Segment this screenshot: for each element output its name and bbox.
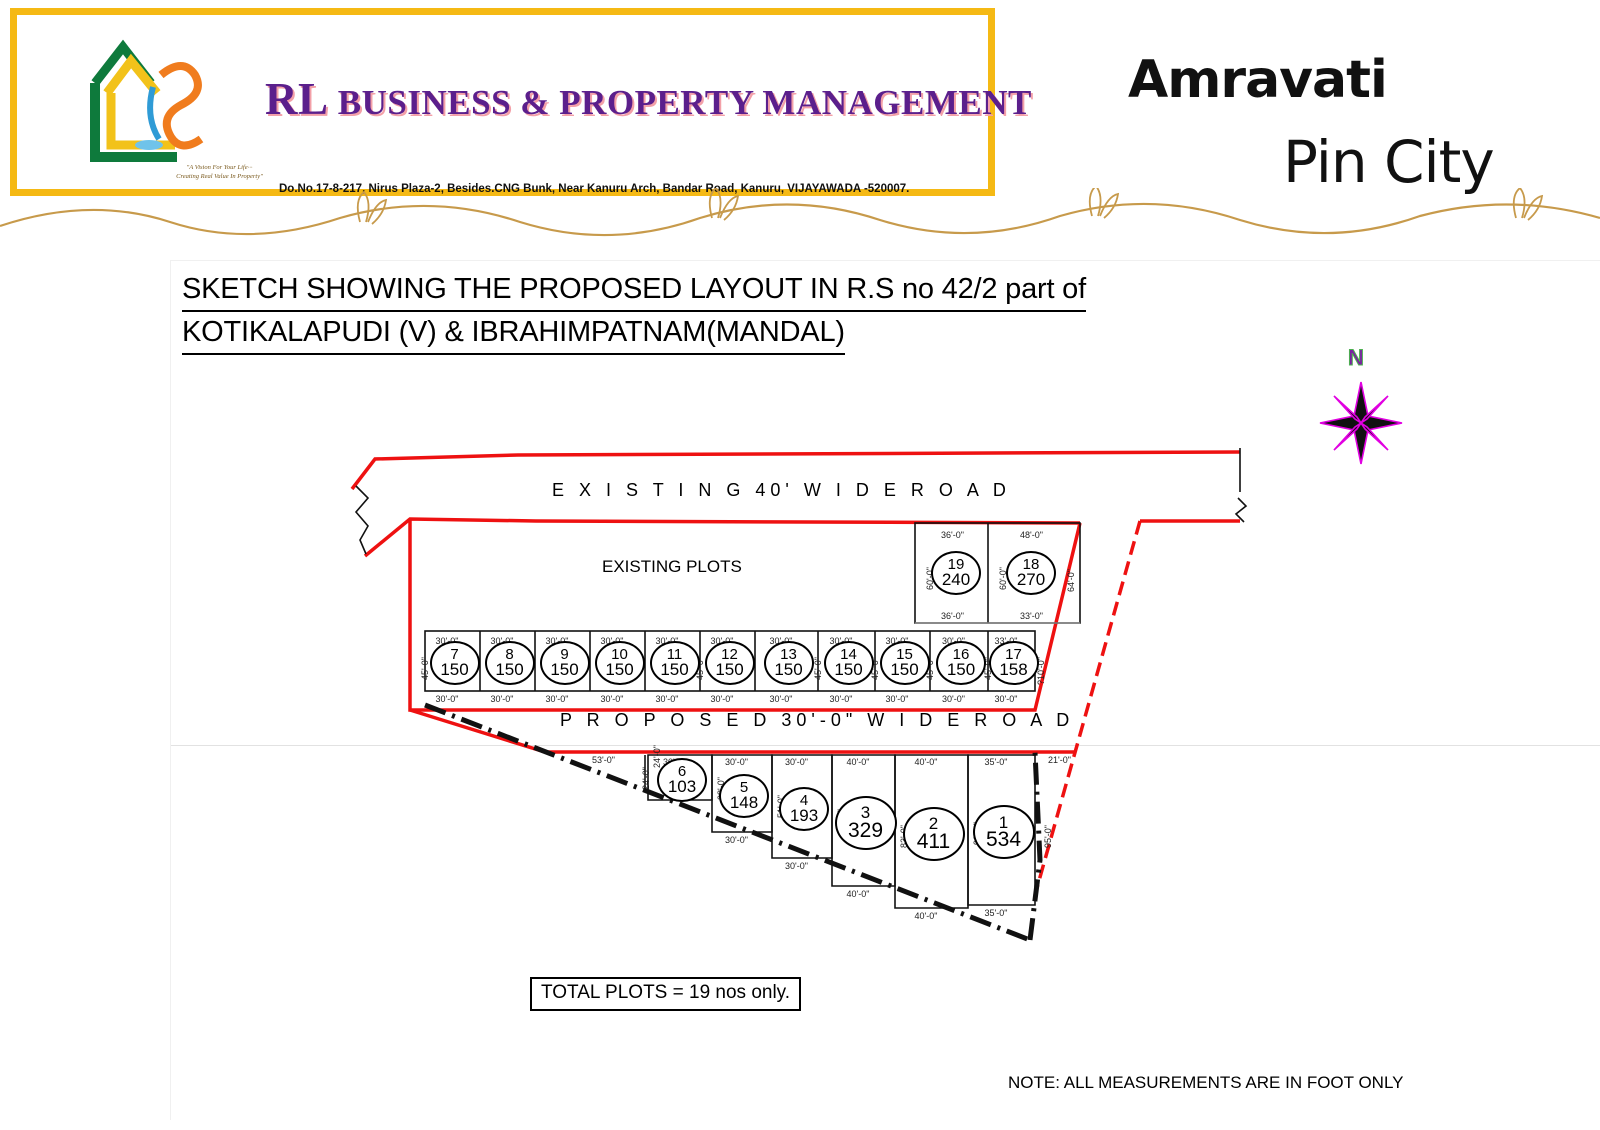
plot-marker-3[interactable]: 3329 bbox=[835, 796, 897, 850]
plot-2-bottom-dim: 40'-0" bbox=[915, 911, 938, 921]
plot-1-far-dim: 95'-0" bbox=[1043, 825, 1053, 848]
plot-8-bottom-dim: 30'-0" bbox=[491, 694, 514, 704]
plot-marker-13[interactable]: 13150 bbox=[764, 641, 814, 685]
plot-16-area: 150 bbox=[947, 662, 975, 678]
plot-14-area: 150 bbox=[834, 662, 862, 678]
plot-19-bottom-dim: 36'-0" bbox=[941, 611, 964, 621]
plot-12-bottom-dim: 30'-0" bbox=[711, 694, 734, 704]
plot-marker-5[interactable]: 5148 bbox=[719, 774, 769, 818]
plot-1-area: 534 bbox=[986, 830, 1021, 849]
plot-1-gap-dim: 21'-0" bbox=[1048, 755, 1071, 765]
plot-1-bottom-dim: 35'-0" bbox=[985, 908, 1008, 918]
plot-15-bottom-dim: 30'-0" bbox=[886, 694, 909, 704]
plot-9-area: 150 bbox=[550, 662, 578, 678]
plot-19-area: 240 bbox=[942, 572, 970, 588]
plot-18-area: 270 bbox=[1017, 572, 1045, 588]
plot-marker-17[interactable]: 17158 bbox=[989, 641, 1039, 685]
plot-marker-8[interactable]: 8150 bbox=[485, 641, 535, 685]
plot-marker-9[interactable]: 9150 bbox=[540, 641, 590, 685]
plot-marker-15[interactable]: 15150 bbox=[880, 641, 930, 685]
plot-15-area: 150 bbox=[890, 662, 918, 678]
plot-marker-16[interactable]: 16150 bbox=[936, 641, 986, 685]
plot-5-top-dim: 30'-0" bbox=[725, 757, 748, 767]
plot-4-area: 193 bbox=[790, 808, 818, 824]
plot-4-bottom-dim: 30'-0" bbox=[785, 861, 808, 871]
plot-7-left-dim: 45'-0" bbox=[420, 657, 430, 680]
plot-11-area: 150 bbox=[660, 662, 688, 678]
plot-17-area: 158 bbox=[999, 662, 1027, 678]
plot-marker-10[interactable]: 10150 bbox=[595, 641, 645, 685]
plot-marker-12[interactable]: 12150 bbox=[705, 641, 755, 685]
break-mark-right bbox=[1236, 498, 1246, 522]
plot-marker-18[interactable]: 18 270 bbox=[1006, 551, 1056, 595]
plot-5-bottom-dim: 30'-0" bbox=[725, 835, 748, 845]
plot-9-bottom-dim: 30'-0" bbox=[546, 694, 569, 704]
plot-2-top-dim: 40'-0" bbox=[915, 757, 938, 767]
existing-road-label: E X I S T I N G 40' W I D E R O A D bbox=[552, 480, 1011, 501]
plot-1-top-dim: 35'-0" bbox=[985, 757, 1008, 767]
plot-7-bottom-dim: 30'-0" bbox=[436, 694, 459, 704]
plot-8-area: 150 bbox=[495, 662, 523, 678]
total-plots-box: TOTAL PLOTS = 19 nos only. bbox=[530, 977, 801, 1011]
plot-marker-7[interactable]: 7150 bbox=[430, 641, 480, 685]
plot-7-area: 150 bbox=[440, 662, 468, 678]
plot-marker-11[interactable]: 11150 bbox=[650, 641, 700, 685]
plot-4-top-dim: 30'-0" bbox=[785, 757, 808, 767]
plot-marker-14[interactable]: 14150 bbox=[824, 641, 874, 685]
plot-19-top-dim: 36'-0" bbox=[941, 530, 964, 540]
plot-11-bottom-dim: 30'-0" bbox=[656, 694, 679, 704]
plot-6-side-dim: 24'-0" bbox=[652, 745, 662, 768]
measurement-note: NOTE: ALL MEASUREMENTS ARE IN FOOT ONLY bbox=[1008, 1073, 1404, 1093]
layout-plan-drawing bbox=[0, 0, 1600, 1130]
lower-left-dim-a: 53'-0" bbox=[592, 755, 615, 765]
plot-14-left-dim: 45'-0" bbox=[813, 657, 823, 680]
plot-3-bottom-dim: 40'-0" bbox=[847, 889, 870, 899]
plot-10-area: 150 bbox=[605, 662, 633, 678]
plot-marker-4[interactable]: 4193 bbox=[779, 787, 829, 831]
plot-13-bottom-dim: 30'-0" bbox=[770, 694, 793, 704]
plot-marker-2[interactable]: 2411 bbox=[903, 807, 965, 861]
plot-13-area: 150 bbox=[774, 662, 802, 678]
lower-left-dim-b: 24'-0" bbox=[641, 767, 651, 790]
proposed-road-label: P R O P O S E D 30'-0" W I D E R O A D bbox=[560, 710, 1074, 731]
plot-5-area: 148 bbox=[730, 795, 758, 811]
plot-3-area: 329 bbox=[848, 821, 883, 840]
plot-3-top-dim: 40'-0" bbox=[847, 757, 870, 767]
break-mark-left bbox=[356, 486, 368, 554]
plot-17-bottom-dim: 30'-0" bbox=[995, 694, 1018, 704]
plot-14-bottom-dim: 30'-0" bbox=[830, 694, 853, 704]
plot-12-area: 150 bbox=[715, 662, 743, 678]
plot-18-right-dim: 64'-0" bbox=[1066, 569, 1076, 592]
plot-marker-6[interactable]: 6103 bbox=[657, 758, 707, 802]
plot-marker-1[interactable]: 1534 bbox=[973, 805, 1035, 859]
plot-18-top-dim: 48'-0" bbox=[1020, 530, 1043, 540]
plot-marker-19[interactable]: 19 240 bbox=[931, 551, 981, 595]
plot-16-bottom-dim: 30'-0" bbox=[942, 694, 965, 704]
plot-10-bottom-dim: 30'-0" bbox=[601, 694, 624, 704]
plot-2-area: 411 bbox=[917, 832, 950, 851]
existing-plots-label: EXISTING PLOTS bbox=[602, 557, 742, 577]
boundary-road-bottom bbox=[365, 519, 1080, 556]
plot-18-bottom-dim: 33'-0" bbox=[1020, 611, 1043, 621]
plot-6-area: 103 bbox=[668, 779, 696, 795]
